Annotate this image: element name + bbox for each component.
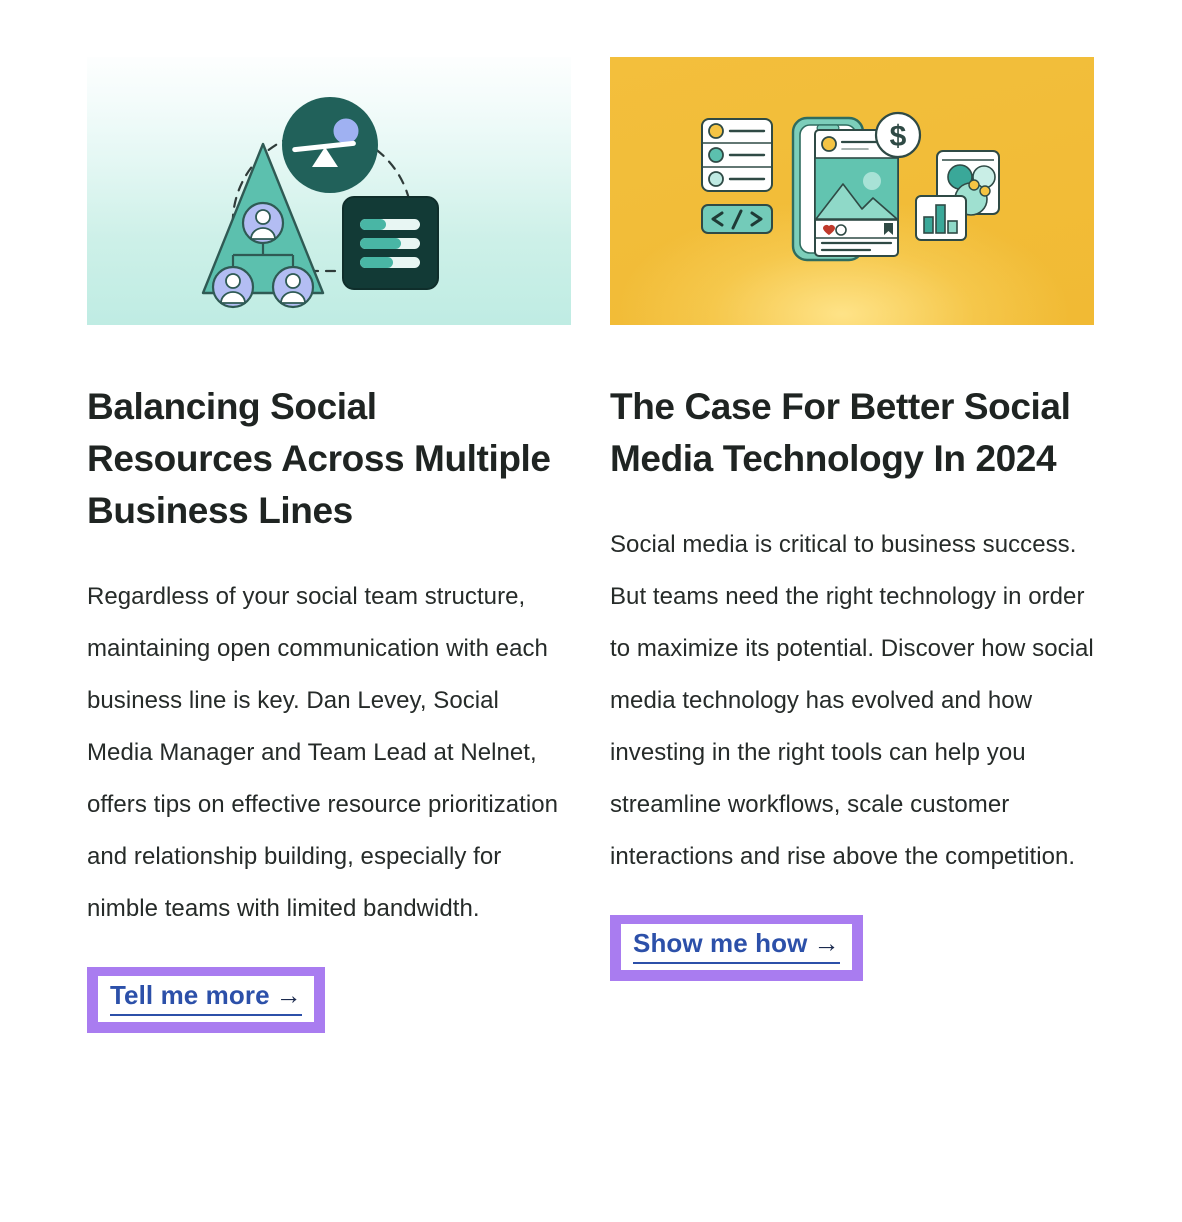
code-tag-icon: [702, 205, 772, 233]
article-cta-wrap: Tell me more→: [87, 935, 571, 1033]
article-body: Social media is critical to business suc…: [610, 485, 1094, 883]
cta-inner-box: Show me how→: [621, 924, 852, 970]
cta-label: Show me how: [633, 928, 807, 958]
tell-me-more-link[interactable]: Tell me more→: [110, 979, 302, 1016]
article-title: Balancing Social Resources Across Multip…: [87, 325, 571, 537]
article-title: The Case For Better Social Media Technol…: [610, 325, 1094, 485]
bar-chart-card: [916, 196, 966, 240]
cta-highlight-box: Show me how→: [610, 915, 863, 981]
checklist-card: [702, 119, 772, 191]
arrow-right-icon: →: [276, 980, 302, 1010]
article-body: Regardless of your social team structure…: [87, 537, 571, 935]
cta-label: Tell me more: [110, 980, 270, 1010]
article-card-social-media-technology[interactable]: $: [610, 57, 1094, 1033]
svg-text:$: $: [890, 120, 907, 153]
show-me-how-link[interactable]: Show me how→: [633, 927, 840, 964]
article-hero-image-technology: $: [610, 57, 1094, 325]
balance-org-chart-illustration: [87, 57, 571, 325]
newsletter-article-cards: Balancing Social Resources Across Multip…: [0, 0, 1182, 1222]
arrow-right-icon: →: [813, 928, 839, 958]
article-card-balancing-social-resources[interactable]: Balancing Social Resources Across Multip…: [87, 57, 571, 1033]
article-hero-image-balance: [87, 57, 571, 325]
social-media-technology-illustration: $: [610, 57, 1094, 325]
cta-highlight-box: Tell me more→: [87, 967, 325, 1033]
article-card-grid: Balancing Social Resources Across Multip…: [87, 57, 1094, 1033]
article-cta-wrap: Show me how→: [610, 883, 1094, 981]
cta-inner-box: Tell me more→: [98, 976, 314, 1022]
dollar-coin-icon: $: [876, 113, 920, 157]
